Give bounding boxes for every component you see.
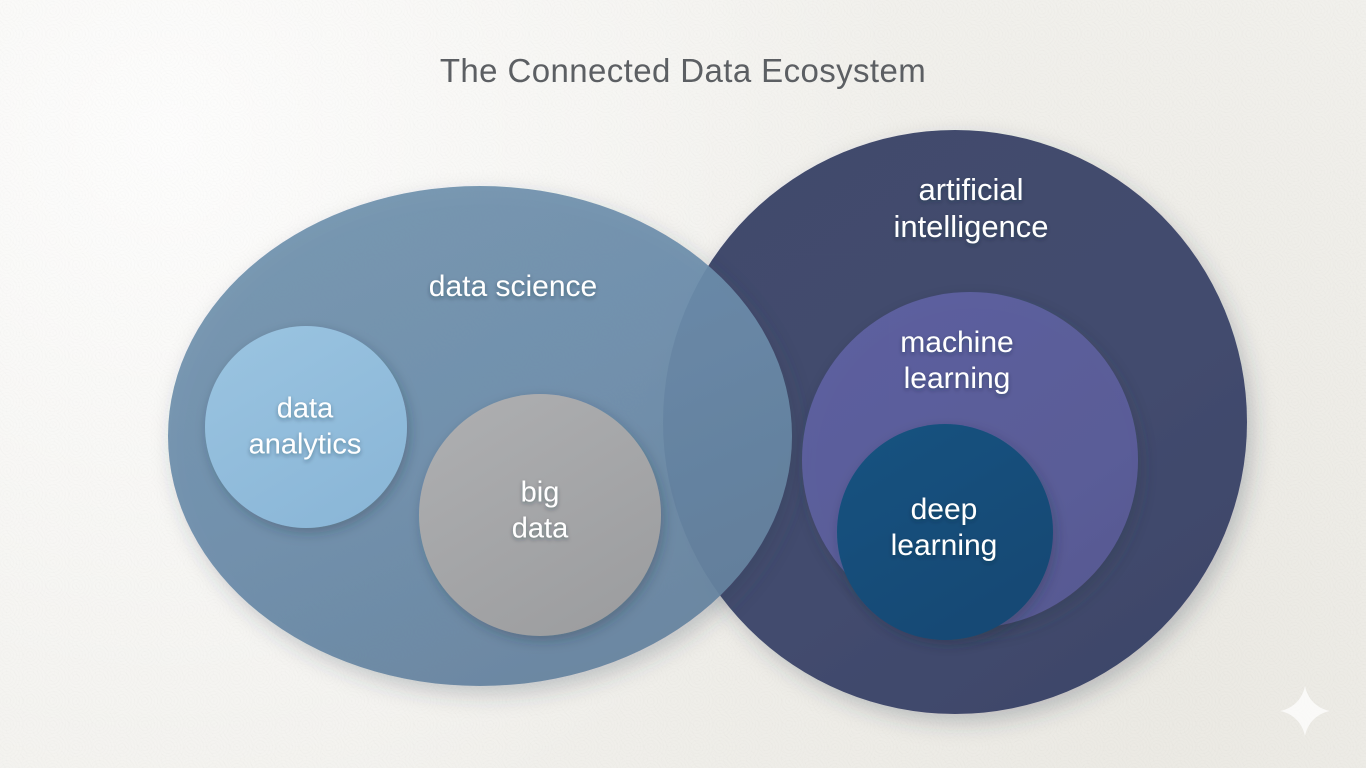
- label-machine-learning-line2: learning: [904, 362, 1011, 395]
- label-artificial-intelligence-line1: artificial: [918, 172, 1023, 207]
- label-data-analytics-line1: data: [277, 393, 334, 425]
- sparkle-watermark: [1276, 682, 1334, 740]
- slide-canvas: The Connected Data Ecosystem: [0, 0, 1366, 768]
- venn-diagram: data science artificial intelligence mac…: [0, 0, 1366, 768]
- label-artificial-intelligence-line2: intelligence: [893, 209, 1048, 244]
- set-data-analytics[interactable]: [205, 326, 407, 528]
- venn-diagram-svg: data science artificial intelligence mac…: [0, 0, 1366, 768]
- label-data-analytics-line2: analytics: [249, 429, 362, 461]
- sparkle-icon: [1276, 682, 1334, 740]
- label-big-data-line2: data: [512, 513, 569, 545]
- label-data-science: data science: [429, 270, 597, 303]
- label-big-data-line1: big: [521, 477, 560, 509]
- label-machine-learning-line1: machine: [900, 326, 1013, 359]
- label-deep-learning-line1: deep: [911, 493, 978, 526]
- label-deep-learning-line2: learning: [891, 529, 998, 562]
